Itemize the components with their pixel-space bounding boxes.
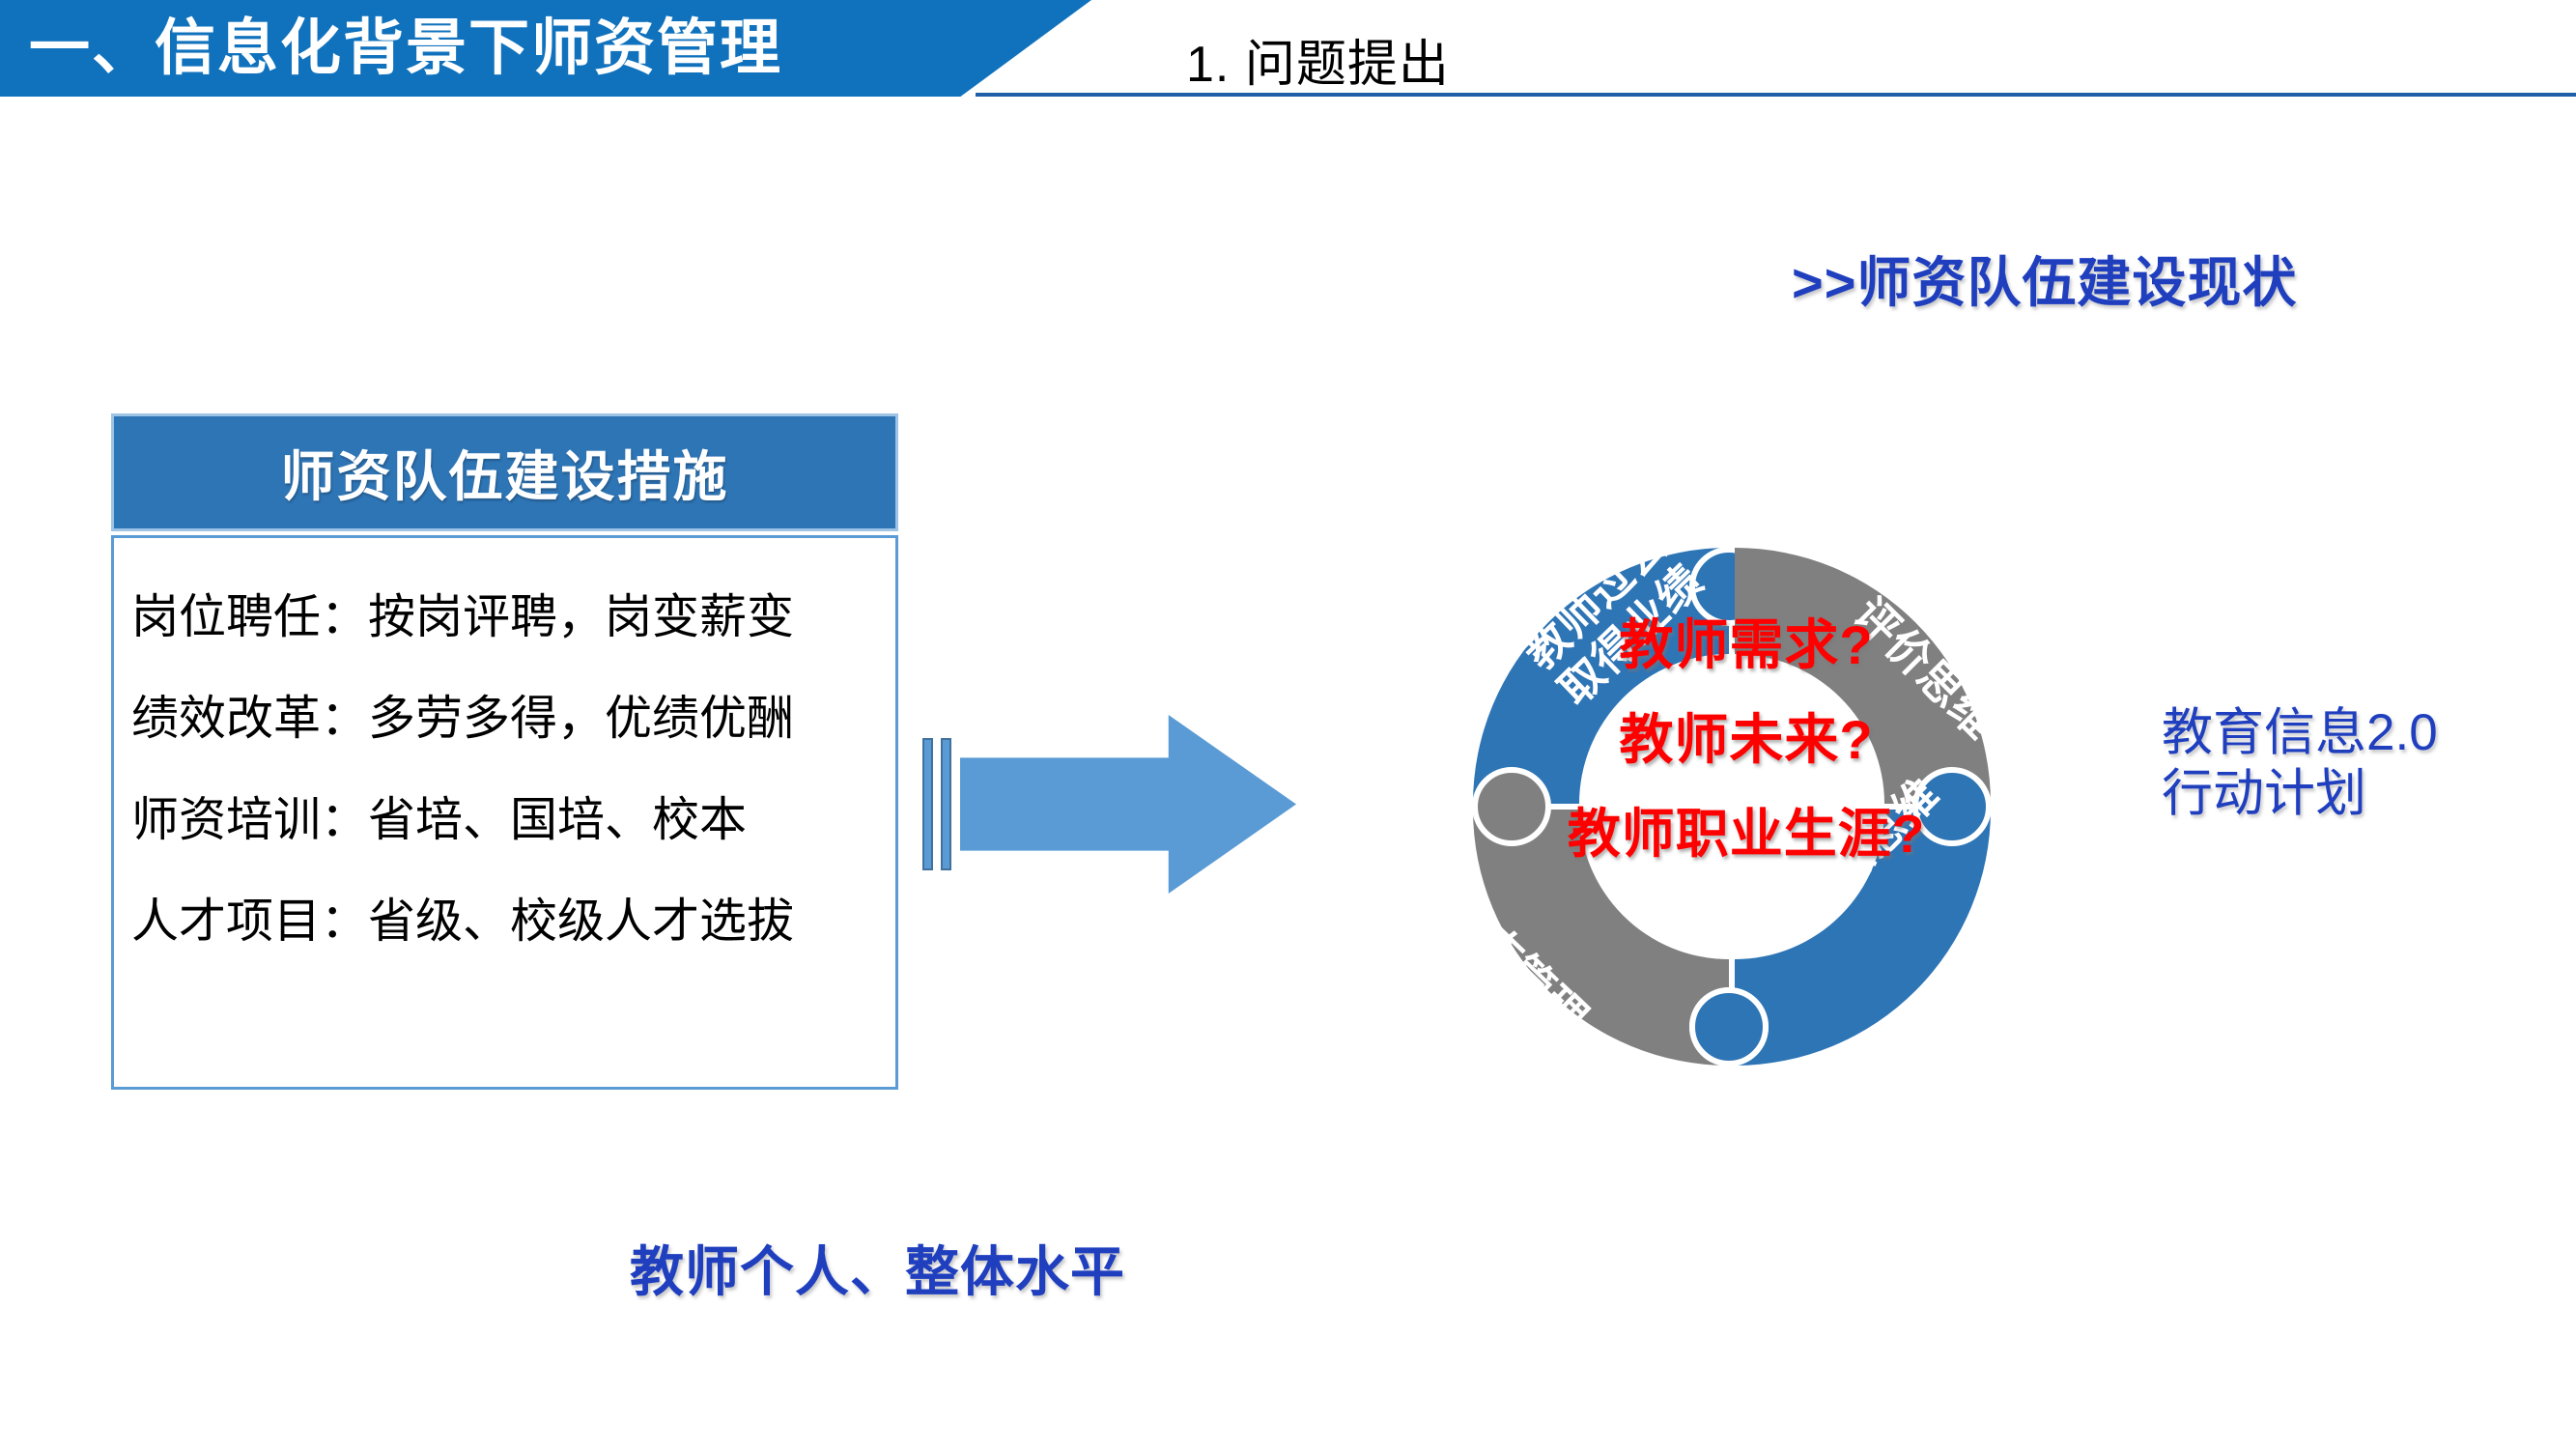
page-title: 一、信息化背景下师资管理 — [29, 8, 956, 89]
center-questions: 教师需求? 教师未来? 教师职业生涯? — [1457, 618, 2036, 861]
center-question: 教师未来? — [1457, 713, 2036, 767]
section-label: 1. 问题提出 — [1186, 23, 1450, 96]
annotation-plan-line2: 行动计划 — [2162, 764, 2438, 825]
center-question: 教师需求? — [1457, 618, 2036, 672]
puzzle-tab-bottom — [1692, 990, 1766, 1064]
list-item: 绩效改革：多劳多得，优绩优酬 — [131, 696, 895, 743]
list-item: 师资培训：省培、国培、校本 — [131, 797, 895, 844]
right-arrow-icon — [922, 715, 1299, 894]
center-question: 教师职业生涯? — [1457, 808, 2036, 861]
arrow-tail-bar-1 — [922, 738, 933, 870]
arrow-tail-bar-2 — [941, 738, 951, 870]
measures-panel-title: 师资队伍建设措施 — [111, 413, 898, 531]
annotation-plan: 教育信息2.0 行动计划 — [2162, 703, 2438, 824]
measures-list: 岗位聘任：按岗评聘，岗变薪变 绩效改革：多劳多得，优绩优酬 师资培训：省培、国培… — [111, 535, 898, 1090]
arrow-body — [960, 715, 1296, 894]
annotation-status: >>师资队伍建设现状 — [1792, 240, 2297, 318]
list-item: 人才项目：省级、校级人才选拔 — [131, 898, 895, 946]
measures-panel: 师资队伍建设措施 岗位聘任：按岗评聘，岗变薪变 绩效改革：多劳多得，优绩优酬 师… — [111, 413, 898, 1090]
annotation-level: 教师个人、整体水平 — [630, 1229, 1125, 1307]
list-item: 岗位聘任：按岗评聘，岗变薪变 — [131, 594, 895, 641]
annotation-plan-line1: 教育信息2.0 — [2162, 703, 2438, 764]
